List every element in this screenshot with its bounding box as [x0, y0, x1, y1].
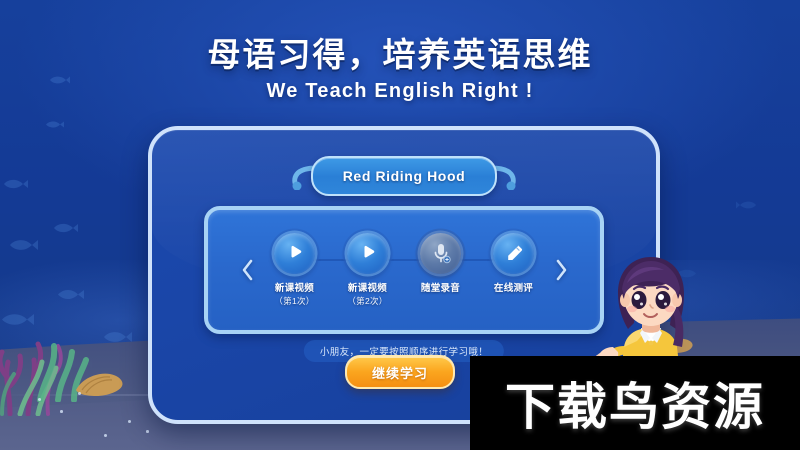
continue-study-button[interactable]: 继续学习	[345, 355, 455, 389]
page-subtitle: We Teach English Right !	[0, 80, 800, 103]
page-title: 母语习得，培养英语思维	[0, 28, 800, 76]
fish-icon	[44, 120, 64, 129]
watermark-text: 下载鸟资源	[505, 367, 765, 439]
prev-step-arrow[interactable]	[236, 250, 258, 290]
play-icon	[347, 233, 388, 274]
play-icon	[274, 233, 315, 274]
fish-icon	[2, 178, 28, 190]
step-label: 新课视频	[275, 283, 314, 294]
watermark-bar: 下载鸟资源	[470, 356, 800, 450]
fish-icon	[52, 222, 78, 234]
app-screen: 母语习得，培养英语思维 We Teach English Right ! Red…	[0, 0, 800, 450]
step-sublabel: （第2次）	[347, 296, 387, 307]
lesson-title: Red Riding Hood	[343, 168, 466, 184]
lesson-title-pill: Red Riding Hood	[311, 156, 497, 196]
sand-speck	[60, 410, 63, 413]
pen-icon	[493, 233, 534, 274]
step-item-recording[interactable]: 随堂录音	[404, 233, 477, 296]
steps-panel: 新课视频 （第1次） 新课视频 （第2次）	[204, 206, 604, 334]
sand-speck	[78, 392, 81, 395]
fish-icon	[736, 200, 758, 210]
step-label: 在线测评	[494, 283, 533, 294]
step-item-online-test[interactable]: 在线测评	[477, 233, 550, 296]
steps-row: 新课视频 （第1次） 新课视频 （第2次）	[208, 210, 600, 330]
step-label: 新课视频	[348, 283, 387, 294]
girl-mascot	[594, 243, 712, 373]
step-item-new-video-2[interactable]: 新课视频 （第2次）	[331, 233, 404, 307]
step-item-new-video-1[interactable]: 新课视频 （第1次）	[258, 233, 331, 307]
continue-study-label: 继续学习	[372, 363, 428, 382]
sand-speck	[38, 398, 41, 401]
steps-track: 新课视频 （第1次） 新课视频 （第2次）	[258, 233, 550, 307]
next-step-arrow[interactable]	[550, 250, 572, 290]
microphone-icon	[420, 233, 461, 274]
sand-speck	[146, 430, 149, 433]
step-sublabel: （第1次）	[274, 296, 314, 307]
fish-icon	[8, 238, 38, 252]
lesson-banner: Red Riding Hood	[289, 156, 519, 192]
fish-icon	[56, 288, 84, 301]
sand-speck	[104, 434, 107, 437]
step-label: 随堂录音	[421, 283, 460, 294]
sand-speck	[128, 420, 131, 423]
